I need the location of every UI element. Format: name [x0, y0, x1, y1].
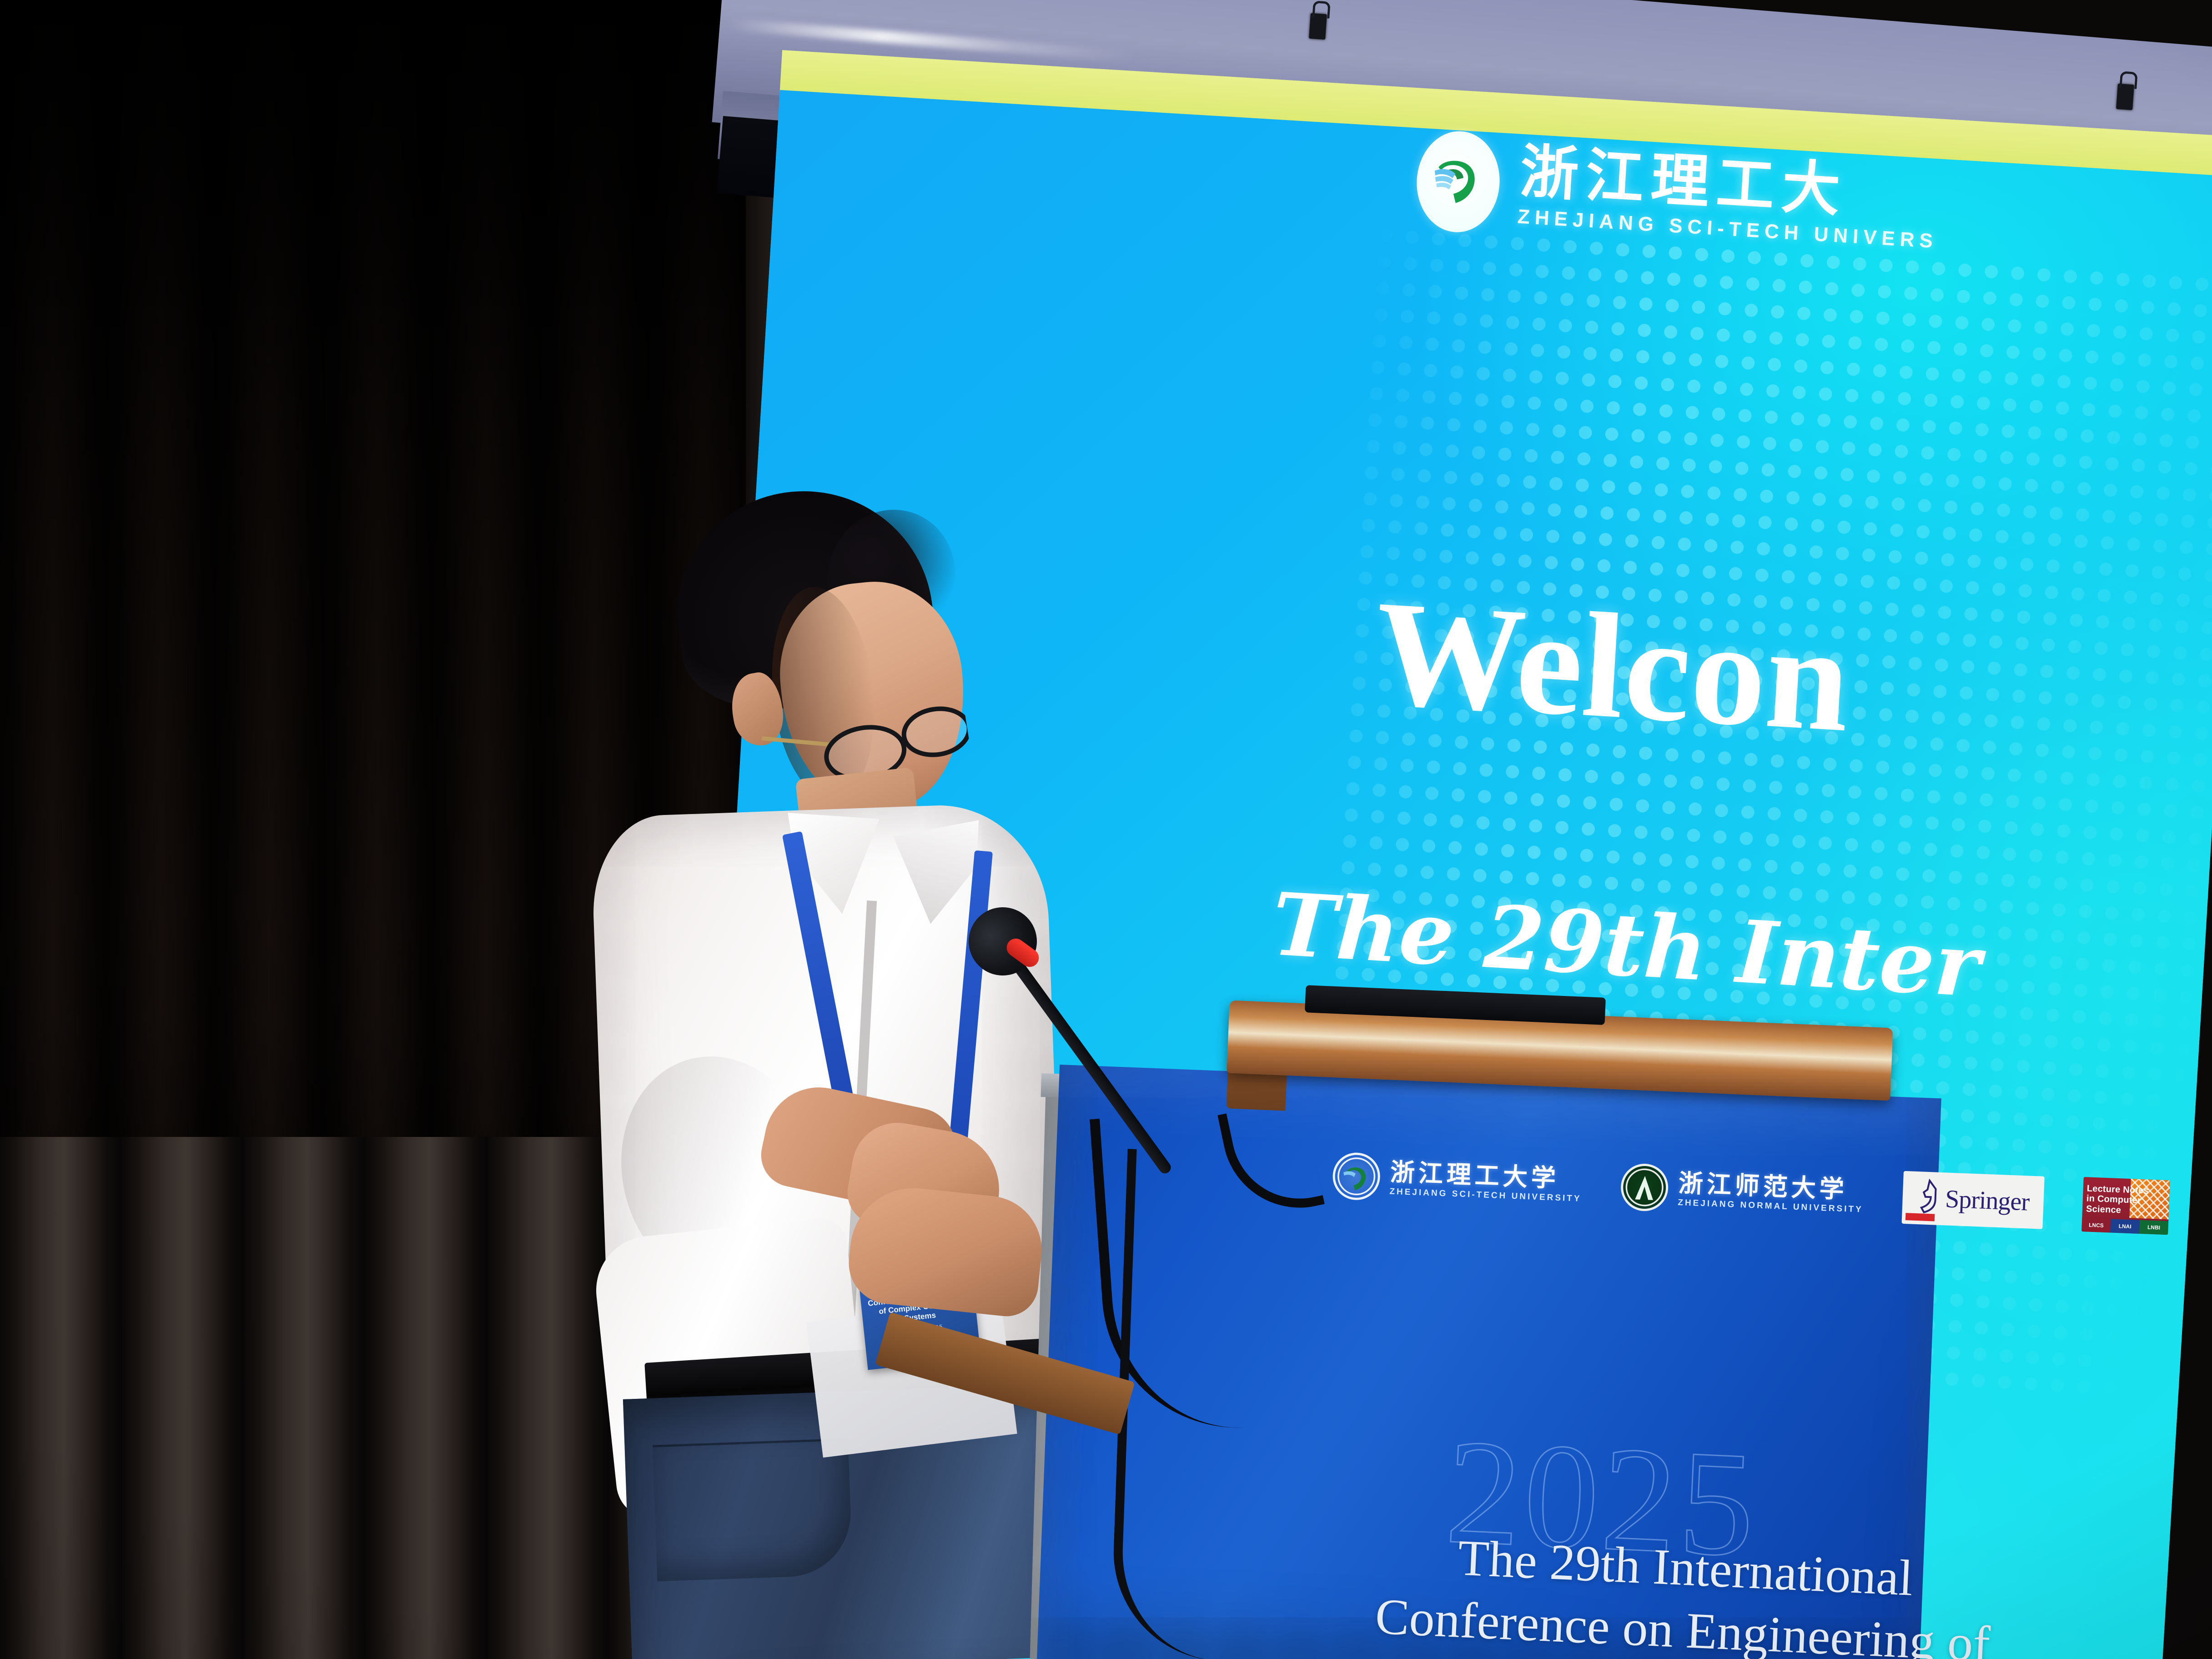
- zhejiang-sci-tech-seal-icon: [1414, 129, 1503, 234]
- zstu-name-cn: 浙江理工大学: [1390, 1160, 1583, 1191]
- binder-clip-icon: [1309, 13, 1327, 40]
- slide-university-names: 浙江理工大 ZHEJIANG SCI-TECH UNIVERS: [1517, 143, 1942, 253]
- springer-wordmark: Springer: [1945, 1186, 2030, 1215]
- znu-seal-icon: [1620, 1163, 1669, 1212]
- conference-photo-scene: 浙江理工大 ZHEJIANG SCI-TECH UNIVERS Welcon T…: [0, 0, 2212, 1659]
- znu-seal-glyph-icon: [1623, 1165, 1667, 1210]
- microphone-cable: [1110, 1149, 1237, 1659]
- slide-headline: Welcon: [1371, 578, 1854, 755]
- znu-name-cn: 浙江师范大学: [1678, 1171, 1864, 1202]
- springer-red-bar: [1905, 1213, 1935, 1221]
- sponsor-logo-znu: 浙江师范大学 ZHEJIANG NORMAL UNIVERSITY: [1620, 1163, 1865, 1219]
- lncs-tag-lnbi: LNBI: [2139, 1220, 2168, 1235]
- zstu-seal-glyph-icon: [1334, 1154, 1379, 1199]
- springer-knight-icon: [1916, 1178, 1941, 1218]
- lncs-tag-lncs: LNCS: [2081, 1218, 2111, 1232]
- lncs-wordmark: Lecture Notes in Computer Science: [2086, 1183, 2155, 1217]
- sponsor-logo-zstu: 浙江理工大学 ZHEJIANG SCI-TECH UNIVERSITY: [1332, 1152, 1583, 1209]
- zstu-logo-text: 浙江理工大学 ZHEJIANG SCI-TECH UNIVERSITY: [1389, 1160, 1583, 1203]
- sponsor-logo-lncs: Lecture Notes in Computer Science LNCS L…: [2081, 1177, 2170, 1235]
- lncs-tag-lnai: LNAI: [2111, 1219, 2140, 1233]
- trouser-pocket: [653, 1438, 853, 1582]
- zstu-seal-icon: [1332, 1152, 1381, 1201]
- binder-clip-icon: [2116, 84, 2134, 110]
- seal-glyph-icon: [1428, 149, 1488, 212]
- sponsor-logo-springer: Springer: [1902, 1171, 2045, 1229]
- znu-logo-text: 浙江师范大学 ZHEJIANG NORMAL UNIVERSITY: [1678, 1171, 1864, 1214]
